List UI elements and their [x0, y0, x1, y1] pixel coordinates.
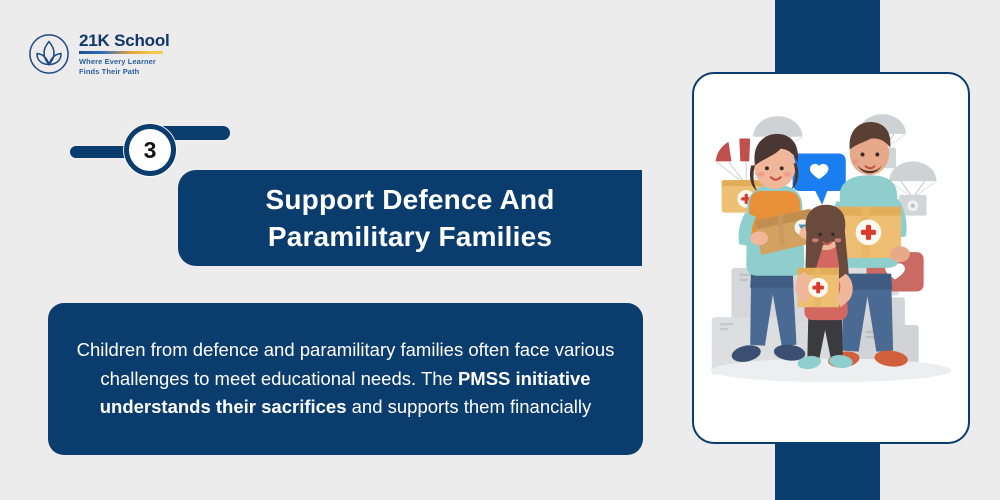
- title-banner: Support Defence And Paramilitary Familie…: [178, 170, 642, 266]
- brand-tagline-line2: Finds Their Path: [79, 67, 139, 76]
- brand-gradient-rule: [79, 51, 163, 54]
- heart-speech-bubble-blue: [793, 154, 846, 205]
- humanitarian-aid-family-illustration: [694, 74, 968, 442]
- brand-name: 21K School: [79, 32, 170, 49]
- page-title: Support Defence And Paramilitary Familie…: [266, 181, 555, 255]
- illustration-card: [692, 72, 970, 444]
- brand-tagline-line1: Where Every Learner: [79, 57, 156, 66]
- lotus-circle-icon: [28, 33, 70, 75]
- page-title-line1: Support Defence And: [266, 184, 555, 215]
- body-text-after: and supports them financially: [347, 396, 592, 417]
- slide-canvas: 21K School Where Every Learner Finds The…: [0, 0, 1000, 500]
- step-number-badge: 3: [124, 124, 176, 176]
- body-card: Children from defence and paramilitary f…: [48, 303, 643, 455]
- step-number: 3: [144, 139, 157, 162]
- brand-tagline: Where Every Learner Finds Their Path: [79, 57, 170, 77]
- body-paragraph: Children from defence and paramilitary f…: [74, 336, 617, 422]
- page-title-line2: Paramilitary Families: [268, 221, 552, 252]
- brand-logo[interactable]: 21K School Where Every Learner Finds The…: [28, 32, 170, 77]
- brand-text-block: 21K School Where Every Learner Finds The…: [79, 32, 170, 77]
